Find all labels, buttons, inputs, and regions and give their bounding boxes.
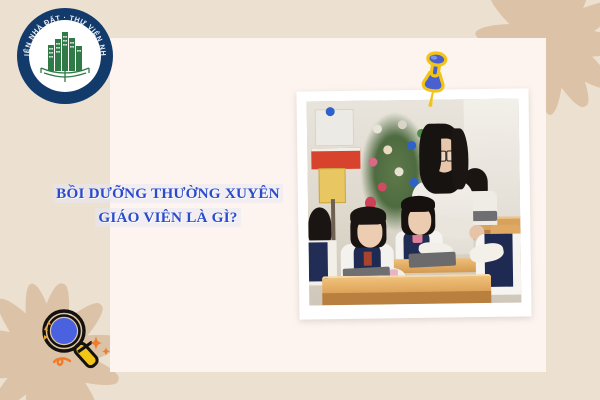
photo-card <box>296 88 531 319</box>
magnifying-glass-icon <box>36 300 116 372</box>
logo-inner-disc <box>29 20 101 92</box>
thumbnail-canvas: THƯ VIỆN NHÀ ĐẤT · THƯ VIỆN NHÀ ĐẤT www.… <box>0 0 600 400</box>
page-title: BỒI DƯỠNG THƯỜNG XUYÊN GIÁO VIÊN LÀ GÌ? <box>52 182 284 229</box>
page-title-line-2: GIÁO VIÊN LÀ GÌ? <box>52 206 284 230</box>
classroom-photo <box>307 99 522 306</box>
site-logo[interactable]: THƯ VIỆN NHÀ ĐẤT · THƯ VIỆN NHÀ ĐẤT www.… <box>17 8 113 104</box>
page-title-line-1: BỒI DƯỠNG THƯỜNG XUYÊN <box>52 182 284 206</box>
pushpin-icon <box>412 50 458 108</box>
squiggle-doodle <box>54 358 70 364</box>
logo-skyline-icon <box>34 27 96 85</box>
